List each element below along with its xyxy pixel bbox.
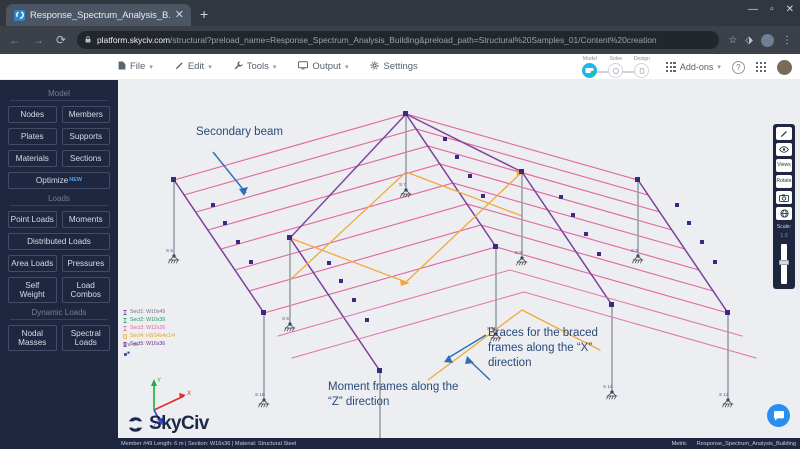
grid-icon xyxy=(666,62,676,72)
hss-box-icon xyxy=(123,334,127,339)
chevron-down-icon: ▾ xyxy=(149,63,153,71)
menu-edit-label: Edit xyxy=(188,61,204,72)
sidebar-item-optimize[interactable]: OptimizeNEW xyxy=(8,172,110,189)
camera-icon[interactable] xyxy=(776,191,792,204)
url-input[interactable]: platform.skyciv.com/structural?preload_n… xyxy=(77,31,719,49)
legend-item: Sect3: W12x26 xyxy=(123,324,175,332)
back-icon[interactable]: ← xyxy=(8,33,22,47)
file-icon xyxy=(118,61,126,72)
legend-item: Sect4: HSS4x4x1/4 xyxy=(123,332,175,340)
legend-label: Sect1: W10x49 xyxy=(130,308,165,316)
omnibox-actions: ☆ ⬗ ⋮ xyxy=(728,34,792,47)
stage-solve[interactable]: Solve xyxy=(603,56,629,78)
rotate-button[interactable]: Rotate xyxy=(776,175,792,188)
stage-model[interactable]: Model xyxy=(577,56,603,78)
left-sidebar: Model Nodes Members Plates Supports Mate… xyxy=(0,80,118,449)
tab-close-icon[interactable]: ✕ xyxy=(175,10,184,21)
new-badge: NEW xyxy=(69,177,82,183)
sidebar-item-spectral-loads[interactable]: Spectral Loads xyxy=(62,325,111,351)
legend-item: Sect2: W10x39 xyxy=(123,316,175,324)
menu-output-label: Output xyxy=(312,61,341,72)
skyciv-app: File ▾ Edit ▾ Tools ▾ O xyxy=(0,54,800,449)
legend-label: Sect4: HSS4x4x1/4 xyxy=(130,332,175,340)
sidebar-row: OptimizeNEW xyxy=(8,172,110,189)
sidebar-item-distributed-loads[interactable]: Distributed Loads xyxy=(8,233,110,250)
sidebar-row: Plates Supports xyxy=(8,128,110,145)
sidebar-row: Self Weight Load Combos xyxy=(8,277,110,303)
status-bar: Member #49 Length: 6 m | Section: W16x36… xyxy=(0,438,800,449)
chevron-down-icon: ▾ xyxy=(208,63,212,71)
profile-avatar-icon[interactable] xyxy=(761,34,774,47)
sidebar-row: Nodal Masses Spectral Loads xyxy=(8,325,110,351)
canvas-inner: S 5 S 6 S 7 S 8 S 9 S 10 S 11 S 12 S 13 … xyxy=(118,80,800,449)
chevron-down-icon: ▾ xyxy=(345,63,349,71)
pencil-icon xyxy=(175,61,184,72)
skyciv-favicon xyxy=(14,10,25,21)
skyciv-logo-text: SkyCiv xyxy=(149,413,209,435)
support-label: S 10 xyxy=(255,392,265,397)
menu-file[interactable]: File ▾ xyxy=(118,61,153,72)
stage-model-label: Model xyxy=(583,56,597,62)
sidebar-row: Area Loads Pressures xyxy=(8,255,110,272)
divider xyxy=(10,100,108,101)
sidebar-row: Materials Sections xyxy=(8,150,110,167)
status-member-info: Member #49 Length: 6 m | Section: W16x36… xyxy=(0,441,296,447)
sidebar-row: Nodes Members xyxy=(8,106,110,123)
help-icon[interactable]: ? xyxy=(732,61,745,74)
scale-slider[interactable] xyxy=(781,244,787,284)
snap-status-label: Snt: On xyxy=(123,342,139,347)
i-beam-icon xyxy=(123,318,127,323)
support-label: S 8 xyxy=(515,250,522,255)
tab-title: Response_Spectrum_Analysis_B... xyxy=(30,10,170,21)
status-right: Metric Response_Spectrum_Analysis_Buildi… xyxy=(672,441,796,447)
url-domain: platform.skyciv.com xyxy=(97,35,170,45)
scale-slider-knob[interactable] xyxy=(779,260,789,265)
address-bar: ← → ⟳ platform.skyciv.com/structural?pre… xyxy=(0,26,800,54)
menu-tools-label: Tools xyxy=(247,61,269,72)
addons-dropdown[interactable]: Add-ons ▾ xyxy=(666,62,721,72)
divider xyxy=(10,205,108,206)
annotation-braces: Braces for the braced frames along the “… xyxy=(488,326,613,371)
divider xyxy=(10,319,108,320)
support-label: S 9 xyxy=(631,248,638,253)
sidebar-item-load-combos[interactable]: Load Combos xyxy=(62,277,111,303)
sidebar-item-plates[interactable]: Plates xyxy=(8,128,57,145)
sidebar-item-nodal-masses[interactable]: Nodal Masses xyxy=(8,325,57,351)
sidebar-group-title-dynamic-loads: Dynamic Loads xyxy=(8,308,110,317)
support-chat-button[interactable] xyxy=(767,404,790,427)
extensions-icon[interactable]: ⬗ xyxy=(745,35,753,46)
sidebar-item-materials[interactable]: Materials xyxy=(8,150,57,167)
scale-label: Scale: xyxy=(777,224,791,230)
legend-label: Sect2: W10x39 xyxy=(130,316,165,324)
sidebar-row: Distributed Loads xyxy=(8,233,110,250)
model-canvas[interactable]: S 5 S 6 S 7 S 8 S 9 S 10 S 11 S 12 S 13 … xyxy=(118,80,800,449)
annotation-secondary-beam: Secondary beam xyxy=(196,125,283,140)
status-project-name: Response_Spectrum_Analysis_Building xyxy=(697,441,796,447)
maximize-button[interactable]: ▫ xyxy=(770,4,774,15)
stage-model-dot xyxy=(582,63,597,78)
sidebar-item-sections[interactable]: Sections xyxy=(62,150,111,167)
browser-window: Response_Spectrum_Analysis_B... ✕ + — ▫ … xyxy=(0,0,800,449)
menu-settings-label: Settings xyxy=(383,61,417,72)
sidebar-group-title-loads: Loads xyxy=(8,194,110,203)
gear-icon xyxy=(370,61,379,72)
sidebar-item-moments[interactable]: Moments xyxy=(62,211,111,228)
menu-output[interactable]: Output ▾ xyxy=(298,61,348,72)
sidebar-item-supports[interactable]: Supports xyxy=(62,128,111,145)
addons-label: Add-ons xyxy=(680,62,714,72)
url-text: platform.skyciv.com/structural?preload_n… xyxy=(97,35,657,45)
chat-icon xyxy=(773,410,785,422)
sidebar-item-point-loads[interactable]: Point Loads xyxy=(8,211,57,228)
user-avatar[interactable] xyxy=(777,60,792,75)
axis-y-label: Y xyxy=(157,378,161,384)
i-beam-icon xyxy=(123,310,127,315)
monitor-icon xyxy=(298,61,308,72)
sidebar-row: Point Loads Moments xyxy=(8,211,110,228)
globe-icon[interactable] xyxy=(776,207,792,220)
sidebar-item-members[interactable]: Members xyxy=(62,106,111,123)
apps-grid-icon[interactable] xyxy=(756,62,766,72)
stage-switcher: Model Solve Design xyxy=(577,56,655,78)
scale-value: 1.0 xyxy=(780,233,787,239)
support-label: S 7 xyxy=(399,182,406,187)
pencil-icon[interactable] xyxy=(776,127,792,140)
support-label: S 6 xyxy=(282,316,289,321)
support-label: S 12 xyxy=(719,392,729,397)
skyciv-logo: SkyCiv xyxy=(126,413,209,435)
sidebar-item-nodes[interactable]: Nodes xyxy=(8,106,57,123)
status-units[interactable]: Metric xyxy=(672,441,687,447)
reload-icon[interactable]: ⟳ xyxy=(54,33,68,47)
stage-solve-label: Solve xyxy=(609,56,622,62)
eye-icon[interactable] xyxy=(776,143,792,156)
menu-tools[interactable]: Tools ▾ xyxy=(234,61,277,72)
sidebar-group-title-model: Model xyxy=(8,89,110,98)
stage-design-dot xyxy=(634,63,649,78)
menu-settings[interactable]: Settings xyxy=(370,61,417,72)
stage-design-label: Design xyxy=(634,56,650,62)
view-toolbar: Views Rotate Scale: 1.0 xyxy=(773,124,795,289)
app-menu-bar: File ▾ Edit ▾ Tools ▾ O xyxy=(0,54,800,80)
snap-icon[interactable] xyxy=(124,351,131,357)
sidebar-item-optimize-label: Optimize xyxy=(36,176,68,185)
menu-file-label: File xyxy=(130,61,145,72)
skyciv-mark-icon xyxy=(126,415,145,434)
app-top-right: Model Solve Design xyxy=(577,54,792,80)
wrench-icon xyxy=(234,61,243,72)
new-tab-button[interactable]: + xyxy=(200,6,208,22)
minimize-button[interactable]: — xyxy=(748,4,758,15)
sidebar-item-area-loads[interactable]: Area Loads xyxy=(8,255,57,272)
lock-icon xyxy=(85,36,91,45)
tab-strip: Response_Spectrum_Analysis_B... ✕ + — ▫ … xyxy=(0,0,800,26)
axis-x-label: X xyxy=(187,391,191,397)
menu-edit[interactable]: Edit ▾ xyxy=(175,61,212,72)
legend-label: Sect3: W12x26 xyxy=(130,324,165,332)
sidebar-item-pressures[interactable]: Pressures xyxy=(62,255,111,272)
sidebar-item-self-weight[interactable]: Self Weight xyxy=(8,277,57,303)
close-window-button[interactable]: ✕ xyxy=(786,4,794,15)
menu-kebab-icon[interactable]: ⋮ xyxy=(782,35,792,46)
support-label: S 14 xyxy=(603,384,613,389)
stage-design[interactable]: Design xyxy=(629,56,655,78)
views-button[interactable]: Views xyxy=(776,159,792,172)
url-path: /structural?preload_name=Response_Spectr… xyxy=(170,35,657,45)
stage-solve-dot xyxy=(608,63,623,78)
forward-icon[interactable]: → xyxy=(31,33,45,47)
browser-tab[interactable]: Response_Spectrum_Analysis_B... ✕ xyxy=(6,4,191,26)
chevron-down-icon: ▾ xyxy=(273,63,277,71)
i-beam-icon xyxy=(123,326,127,331)
window-controls: — ▫ ✕ xyxy=(748,4,794,15)
annotation-moment-frames: Moment frames along the “Z” direction xyxy=(328,380,468,410)
bookmark-star-icon[interactable]: ☆ xyxy=(728,35,737,46)
legend-item: Sect1: W10x49 xyxy=(123,308,175,316)
chevron-down-icon: ▾ xyxy=(717,63,721,71)
support-label: S 5 xyxy=(166,248,173,253)
